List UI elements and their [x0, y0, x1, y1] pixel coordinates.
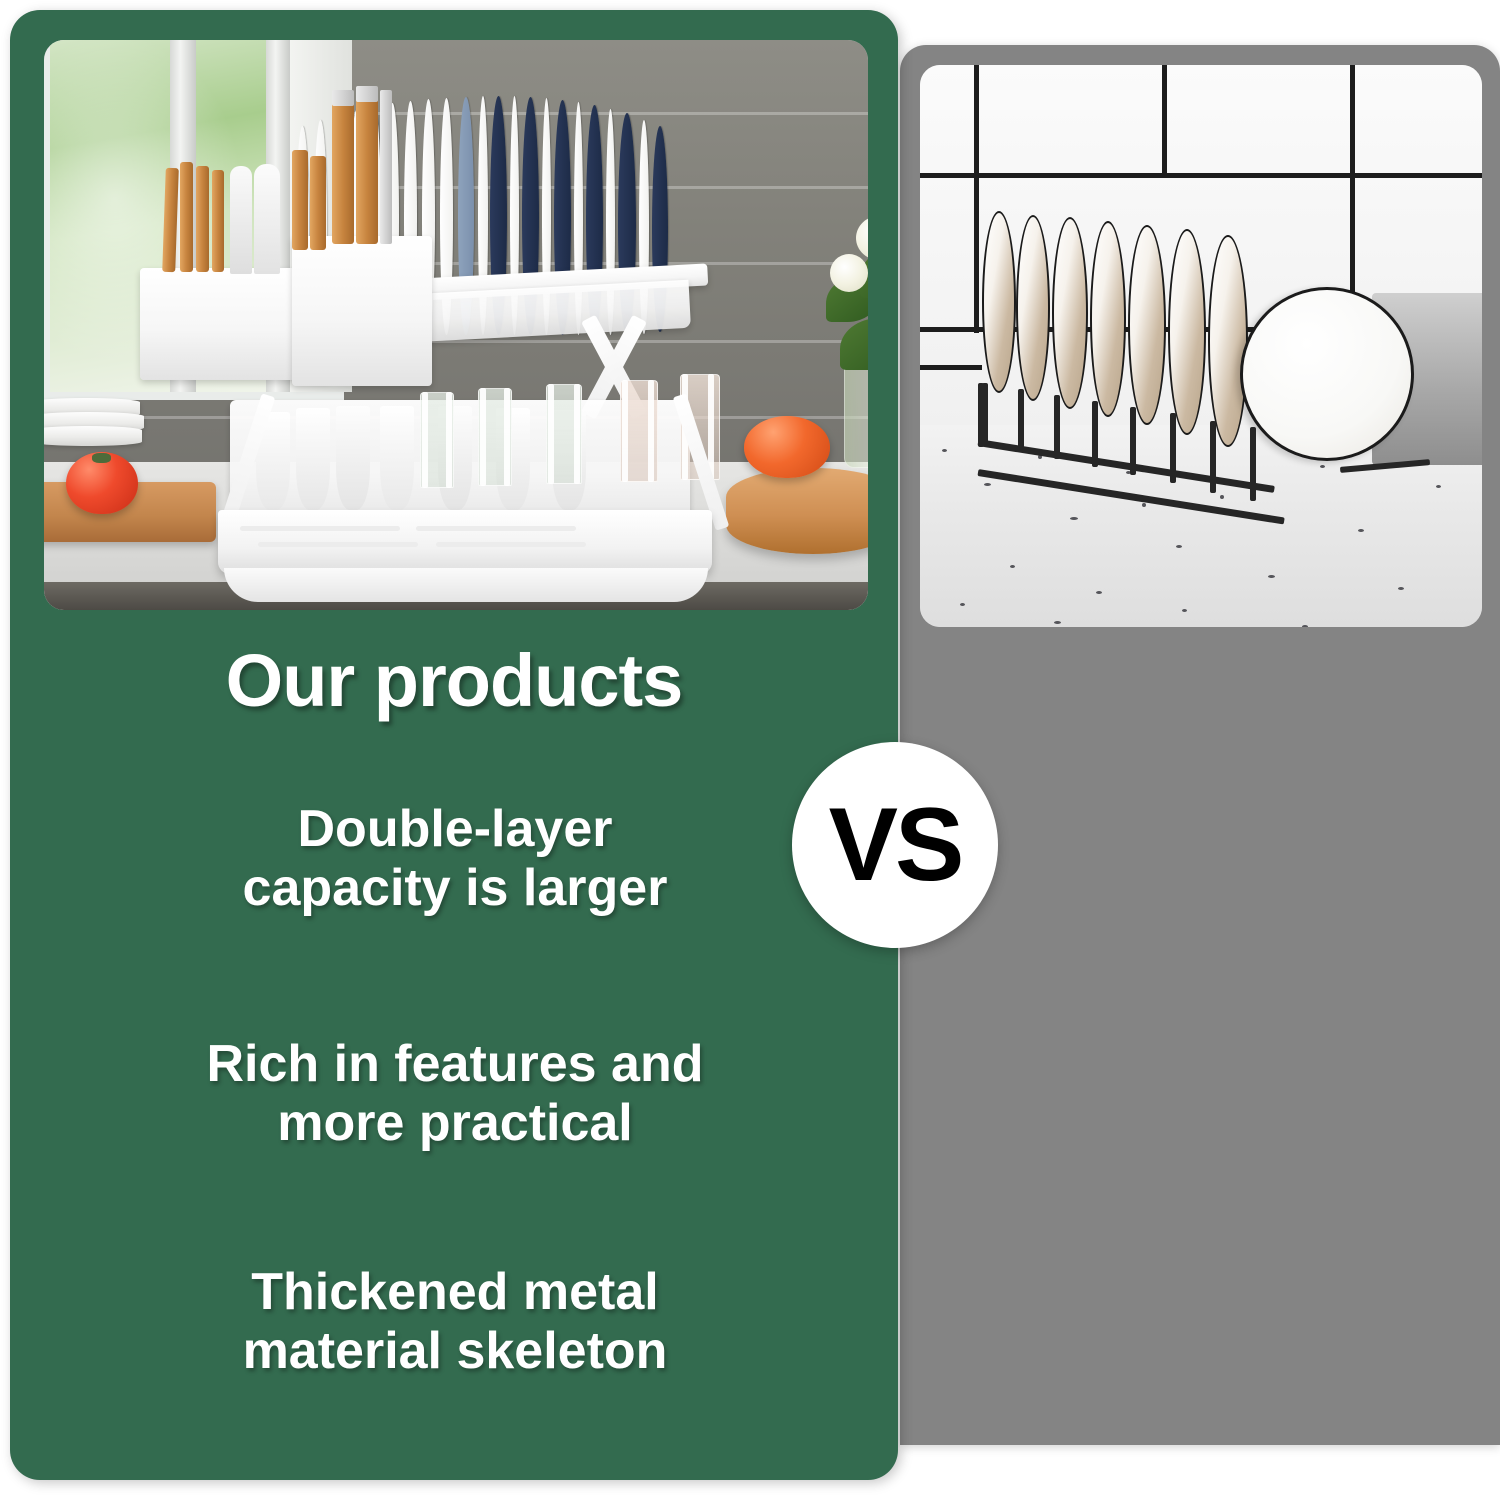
knife-bolster [356, 86, 378, 102]
plate-edge [1208, 235, 1248, 447]
wooden-utensil [212, 170, 224, 272]
infographic-canvas: Other products Single-layer capacity is … [0, 0, 1500, 1500]
bowl [296, 408, 330, 510]
our-products-heading: Our products [10, 638, 898, 723]
our-bullet-3-line1: Thickened metal [251, 1263, 658, 1321]
wire-divider [1170, 413, 1176, 483]
vs-badge: VS [792, 742, 998, 948]
wire-divider [1054, 395, 1060, 459]
wire-divider [1092, 401, 1098, 467]
our-bullet-2-line1: Rich in features and [207, 1035, 704, 1093]
plate-edge [982, 211, 1016, 393]
our-bullet-2-line2: more practical [277, 1094, 633, 1152]
white-spatula [230, 166, 252, 274]
knife-handle [310, 156, 326, 250]
bowl [380, 406, 414, 510]
other-products-panel: Other products Single-layer capacity is … [900, 45, 1500, 1445]
grout-line-h3 [920, 365, 982, 370]
vs-label: VS [829, 793, 962, 897]
wooden-utensil [196, 166, 209, 272]
other-product-photo [920, 65, 1482, 627]
bowl [336, 406, 370, 510]
plate-edge [1016, 215, 1050, 401]
tray-base [224, 568, 708, 602]
stacked-plates [44, 426, 142, 446]
white-spatula [254, 164, 280, 274]
grout-line-h1 [920, 173, 1482, 178]
our-bullet-1-line2: capacity is larger [243, 859, 668, 917]
grout-line-v1 [974, 65, 979, 333]
plate-edge [1090, 221, 1126, 417]
red-tomato [66, 452, 138, 514]
knife-bolster [332, 90, 354, 106]
orange-tomato [744, 416, 830, 478]
knife-handle [356, 98, 378, 244]
wire-divider [1250, 427, 1256, 501]
knife-handle [332, 102, 354, 244]
our-product-photo [44, 40, 868, 610]
plate-edge [1052, 217, 1088, 409]
knife-blade [380, 90, 392, 244]
our-bullet-2: Rich in features and more practical [50, 1035, 860, 1154]
white-rose [830, 254, 868, 292]
knife-block [292, 236, 432, 386]
plate-face [1240, 287, 1414, 461]
wire-divider [1130, 407, 1136, 475]
grout-line-v2 [1162, 65, 1167, 177]
knife-handle [292, 150, 308, 250]
wooden-utensil [180, 162, 193, 272]
our-bullet-3: Thickened metal material skeleton [50, 1263, 860, 1382]
our-bullet-3-line2: material skeleton [243, 1322, 668, 1380]
our-bullet-1: Double-layer capacity is larger [50, 800, 860, 919]
our-bullet-1-line1: Double-layer [298, 800, 613, 858]
wire-end-left [978, 383, 984, 447]
our-products-panel: Our products Double-layer capacity is la… [10, 10, 898, 1480]
plate-edge [1128, 225, 1166, 425]
wire-divider [1018, 389, 1024, 451]
round-wooden-board [726, 468, 868, 554]
plate-edge [1168, 229, 1206, 435]
wire-divider [1210, 421, 1216, 493]
